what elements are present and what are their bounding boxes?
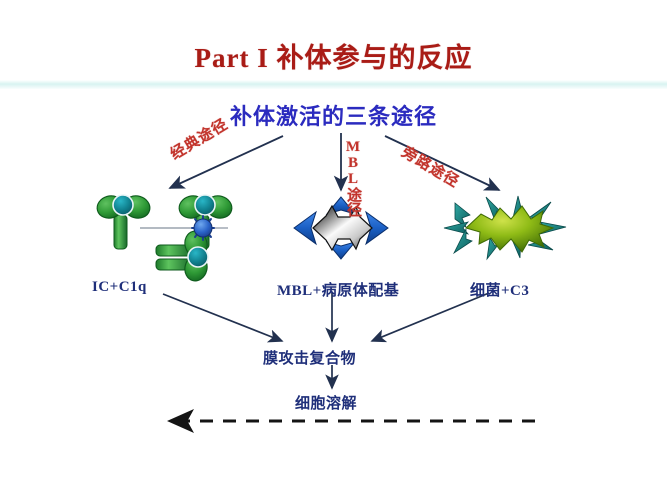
antigen-glyph bbox=[192, 216, 214, 240]
bacterium-burst-icon bbox=[444, 196, 566, 259]
pathway-diagram bbox=[0, 0, 667, 500]
slide-canvas: Part I 补体参与的反应 补体激活的三条途径 bbox=[0, 0, 667, 500]
pathway-label-mbl: MBL途径 bbox=[345, 139, 360, 217]
outcome-label-lysis: 细胞溶解 bbox=[295, 392, 357, 413]
outcome-label-mac: 膜攻击复合物 bbox=[263, 347, 356, 368]
bacterium-body bbox=[466, 206, 553, 252]
initiator-label-bacteria-c3: 细菌+C3 bbox=[470, 279, 529, 300]
antibody-glyph bbox=[94, 193, 152, 249]
mbl-lectin-icon bbox=[294, 197, 388, 259]
mbl-core-glyph bbox=[313, 206, 372, 250]
initiator-label-ic-c1q: IC+C1q bbox=[92, 279, 147, 296]
initiator-label-mbl-ligand: MBL+病原体配基 bbox=[277, 279, 399, 300]
bacteria-to-mac-arrow bbox=[372, 293, 489, 341]
antibody-antigen-complex-icon bbox=[94, 193, 234, 283]
ic-to-mac-arrow bbox=[163, 294, 282, 341]
